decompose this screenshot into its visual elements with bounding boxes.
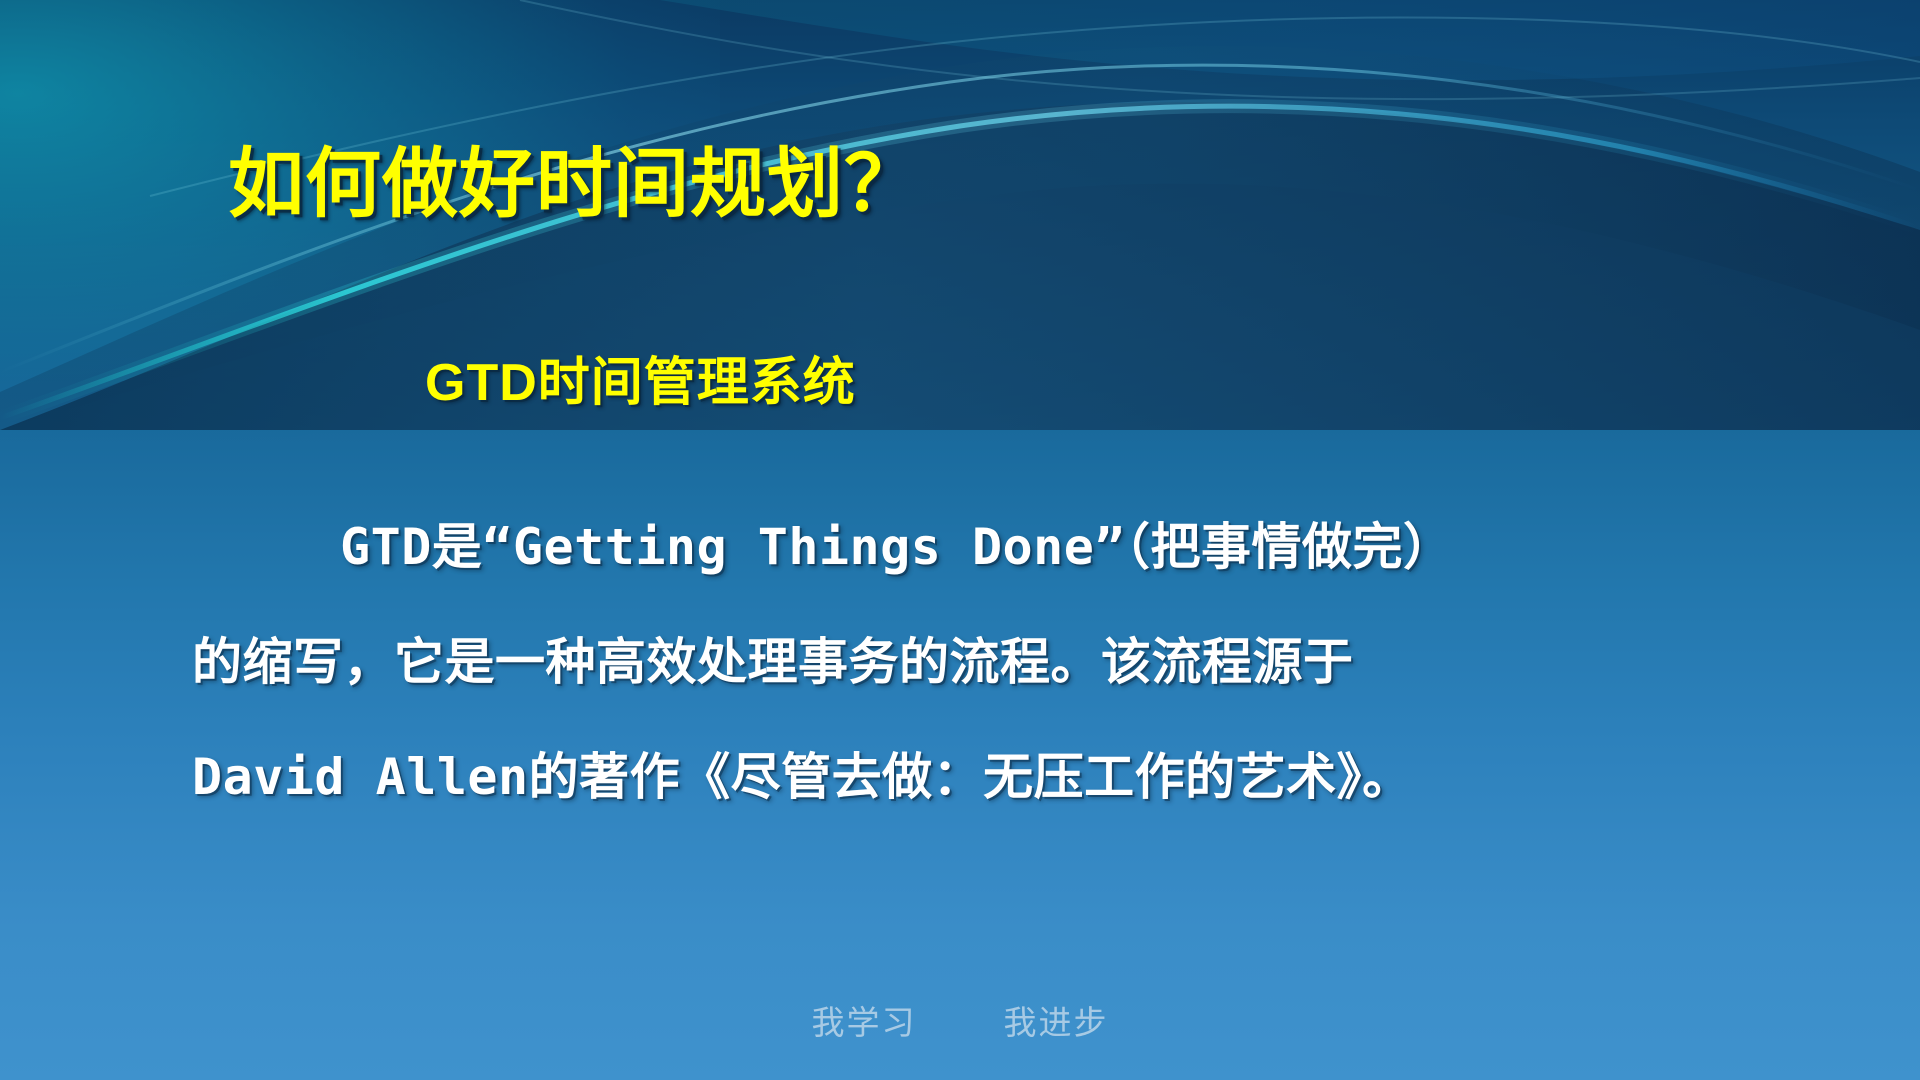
body-line-2: 的缩写，它是一种高效处理事务的流程。该流程源于 — [192, 605, 1776, 720]
slide-subtitle: GTD时间管理系统 — [425, 340, 856, 415]
slide-body: GTD是“Getting Things Done”（把事情做完） 的缩写，它是一… — [192, 490, 1776, 835]
footer-text-right: 我进步 — [1003, 1004, 1108, 1041]
body-line-1: GTD是“Getting Things Done”（把事情做完） — [192, 490, 1776, 605]
presentation-slide: 如何做好时间规划？ GTD时间管理系统 GTD是“Getting Things … — [0, 0, 1920, 1080]
slide-title: 如何做好时间规划？ — [228, 122, 921, 232]
body-line-3: David Allen的著作《尽管去做：无压工作的艺术》。 — [192, 720, 1776, 835]
slide-footer: 我学习 我进步 — [0, 996, 1920, 1044]
footer-text-left: 我学习 — [812, 1004, 917, 1041]
